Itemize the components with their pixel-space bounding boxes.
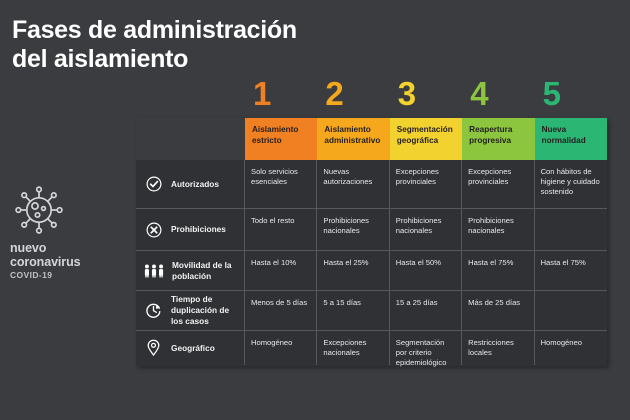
header-phase-3: Segmentación geográfica (390, 118, 462, 160)
cell-line-2: nacionales (323, 348, 383, 358)
cell-r1-c2: Nuevas autorizaciones (317, 160, 389, 208)
cell-r5-c3: Segmentación por criterio epidemiológico (390, 331, 462, 365)
cell-line-1: Más de 25 días (468, 298, 528, 308)
row-label-text: Prohibiciones (171, 224, 226, 235)
cell-line-3: sostenido (541, 187, 602, 197)
header-phase-3-line-1: Segmentación (397, 125, 456, 136)
cell-line-1: Prohibiciones (468, 216, 528, 226)
cell-line-1: Prohibiciones (323, 216, 383, 226)
cell-line-1: 5 a 15 días (323, 298, 383, 308)
logo-line-covid19: COVID-19 (10, 270, 120, 280)
row-label-text: Autorizados (171, 179, 219, 190)
cell-r4-c4: Más de 25 días (462, 291, 534, 330)
phase-number-3: 3 (390, 72, 462, 116)
cell-line-2: provinciales (468, 177, 528, 187)
phase-number-1: 1 (245, 72, 317, 116)
header-phase-2: Aislamiento administrativo (317, 118, 389, 160)
row-label-text: Tiempo de duplicación de los casos (171, 294, 239, 326)
cell-line-2: nacionales (396, 226, 456, 236)
header-phase-1-line-2: estricto (252, 136, 311, 147)
cell-line-2: higiene y cuidado (541, 177, 602, 187)
cell-line-2: nacionales (468, 226, 528, 236)
cell-r4-c3: 15 a 25 días (390, 291, 462, 330)
location-pin-icon (143, 339, 164, 357)
cell-r5-c1: Homogéneo (245, 331, 317, 365)
cell-line-1: Prohibiciones (396, 216, 456, 226)
cell-r1-c5: Con hábitos de higiene y cuidado sosteni… (535, 160, 607, 208)
check-circle-icon (143, 176, 164, 192)
page-title-line-1: Fases de administración (12, 16, 312, 45)
cell-r2-c4: Prohibiciones nacionales (462, 209, 534, 250)
row-label-line-1: Tiempo de (171, 294, 212, 304)
header-phase-5: Nueva normalidad (535, 118, 607, 160)
header-phase-4-line-1: Reapertura (469, 125, 528, 136)
row-label-line-1: Prohibiciones (171, 224, 226, 234)
phase-number-2: 2 (317, 72, 389, 116)
cell-line-1: Con hábitos de (541, 167, 602, 177)
header-corner-spacer (136, 118, 245, 160)
cell-line-1: Homogéneo (541, 338, 602, 348)
cell-r2-c2: Prohibiciones nacionales (317, 209, 389, 250)
infographic-root: Fases de administración del aislamiento (0, 0, 630, 420)
cell-r2-c5 (535, 209, 607, 250)
cell-line-2: nacionales (323, 226, 383, 236)
cell-line-1: Nuevas (323, 167, 383, 177)
row-label-movilidad: Movilidad de la población (136, 251, 245, 290)
cell-r5-c4: Restricciones locales (462, 331, 534, 365)
cell-line-2: locales (468, 348, 528, 358)
cell-line-1: Hasta el 50% (396, 258, 456, 268)
clock-icon (143, 302, 164, 319)
cell-r5-c2: Excepciones nacionales (317, 331, 389, 365)
table-row: Geográfico Homogéneo Excepciones naciona… (136, 330, 607, 365)
cell-line-1: Hasta el 75% (541, 258, 602, 268)
row-label-line-1: Movilidad de (172, 260, 222, 270)
logo-line-coronavirus: coronavirus (10, 255, 120, 269)
row-label-line-2: duplicación (171, 305, 217, 315)
coronavirus-logo: nuevo coronavirus COVID-19 (10, 186, 120, 280)
logo-line-nuevo: nuevo (10, 241, 120, 255)
cell-line-1: Excepciones (468, 167, 528, 177)
cell-r3-c4: Hasta el 75% (462, 251, 534, 290)
cell-r3-c2: Hasta el 25% (317, 251, 389, 290)
coronavirus-logo-text: nuevo coronavirus COVID-19 (10, 241, 120, 280)
table-row: Autorizados Solo servicios esenciales Nu… (136, 160, 607, 208)
cell-line-2: autorizaciones (323, 177, 383, 187)
cell-r1-c1: Solo servicios esenciales (245, 160, 317, 208)
phases-table: Aislamiento estricto Aislamiento adminis… (136, 118, 607, 366)
cell-r2-c1: Todo el resto (245, 209, 317, 250)
cell-line-1: Restricciones (468, 338, 528, 348)
row-label-prohibiciones: Prohibiciones (136, 209, 245, 250)
cell-r4-c2: 5 a 15 días (317, 291, 389, 330)
header-phase-4-line-2: progresiva (469, 136, 528, 147)
cell-line-1: Menos de 5 días (251, 298, 311, 308)
row-label-text: Geográfico (171, 343, 215, 354)
cell-r3-c3: Hasta el 50% (390, 251, 462, 290)
coronavirus-icon (12, 186, 66, 236)
page-title-line-2: del aislamiento (12, 45, 312, 74)
cell-line-1: Segmentación (396, 338, 456, 348)
cell-r5-c5: Homogéneo (535, 331, 607, 365)
header-phase-2-line-1: Aislamiento (324, 125, 383, 136)
page-title: Fases de administración del aislamiento (12, 16, 312, 74)
cell-r4-c1: Menos de 5 días (245, 291, 317, 330)
people-group-icon (143, 263, 165, 279)
cell-r3-c5: Hasta el 75% (535, 251, 607, 290)
cell-line-1: Excepciones (323, 338, 383, 348)
header-phase-3-line-2: geográfica (397, 136, 456, 147)
cell-line-2: por criterio (396, 348, 456, 358)
cell-line-1: Homogéneo (251, 338, 311, 348)
table-body: Autorizados Solo servicios esenciales Nu… (136, 160, 607, 365)
cell-line-1: Hasta el 75% (468, 258, 528, 268)
header-phase-2-line-2: administrativo (324, 136, 383, 147)
header-phase-4: Reapertura progresiva (462, 118, 534, 160)
table-header-row: Aislamiento estricto Aislamiento adminis… (136, 118, 607, 160)
cell-r3-c1: Hasta el 10% (245, 251, 317, 290)
table-row: Tiempo de duplicación de los casos Menos… (136, 290, 607, 330)
cell-r1-c3: Excepciones provinciales (390, 160, 462, 208)
cell-line-1: Hasta el 10% (251, 258, 311, 268)
header-phase-5-line-1: Nueva (542, 125, 601, 136)
cell-line-1: Excepciones (396, 167, 456, 177)
cell-line-3: epidemiológico (396, 358, 456, 368)
cell-line-1: 15 a 25 días (396, 298, 456, 308)
cell-line-2: esenciales (251, 177, 311, 187)
header-phase-1-line-1: Aislamiento (252, 125, 311, 136)
row-label-tiempo-duplicacion: Tiempo de duplicación de los casos (136, 291, 245, 330)
cell-line-1: Hasta el 25% (323, 258, 383, 268)
header-phase-1: Aislamiento estricto (245, 118, 317, 160)
row-label-text: Movilidad de la población (172, 260, 239, 282)
cell-line-1: Solo servicios (251, 167, 311, 177)
x-circle-icon (143, 222, 164, 238)
row-label-geografico: Geográfico (136, 331, 245, 365)
cell-r2-c3: Prohibiciones nacionales (390, 209, 462, 250)
table-row: Prohibiciones Todo el resto Prohibicione… (136, 208, 607, 250)
row-label-line-1: Geográfico (171, 343, 215, 353)
phase-number-5: 5 (535, 72, 607, 116)
phase-numbers-row: 1 2 3 4 5 (245, 72, 607, 116)
table-row: Movilidad de la población Hasta el 10% H… (136, 250, 607, 290)
cell-line-2: provinciales (396, 177, 456, 187)
phase-number-4: 4 (462, 72, 534, 116)
cell-r1-c4: Excepciones provinciales (462, 160, 534, 208)
header-phase-5-line-2: normalidad (542, 136, 601, 147)
cell-r4-c5 (535, 291, 607, 330)
row-label-autorizados: Autorizados (136, 160, 245, 208)
cell-line-1: Todo el resto (251, 216, 311, 226)
row-label-line-1: Autorizados (171, 179, 219, 189)
